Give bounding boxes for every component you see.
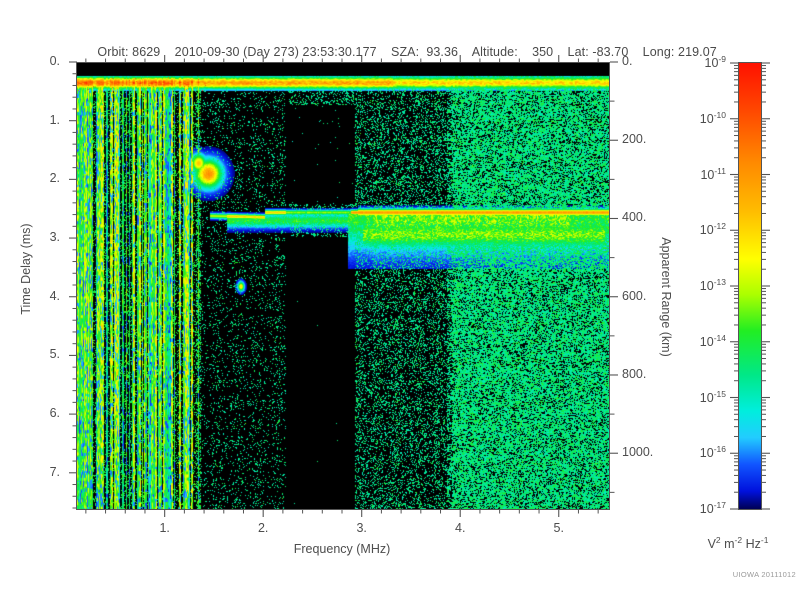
y-right-tick-label: 0.: [622, 54, 632, 68]
colorbar-units-label: V2 m-2 Hz-1: [676, 535, 800, 551]
footer-credit: UIOWA 20111012: [660, 570, 796, 579]
ionogram-page: Orbit: 8629 2010-09-30 (Day 273) 23:53:3…: [0, 0, 800, 600]
colorbar-tick-label: 10-14: [676, 333, 726, 349]
colorbar-tick-label: 10-15: [676, 389, 726, 405]
y-right-tick-label: 1000.: [622, 445, 653, 459]
y-right-tick-label: 400.: [622, 210, 646, 224]
colorbar-tick-label: 10-12: [676, 221, 726, 237]
x-tick-label: 2.: [243, 521, 283, 535]
y-right-axis-ticks: [609, 61, 625, 510]
x-tick-label: 5.: [539, 521, 579, 535]
y-left-tick-label: 1.: [30, 113, 60, 127]
y-left-tick-label: 2.: [30, 171, 60, 185]
colorbar-tick-label: 10-9: [676, 54, 726, 70]
y-left-tick-label: 0.: [30, 54, 60, 68]
colorbar: [738, 62, 762, 510]
y-left-tick-label: 7.: [30, 465, 60, 479]
colorbar-right-ticks: [761, 61, 773, 510]
y-right-tick-label: 800.: [622, 367, 646, 381]
y-right-axis-title: Apparent Range (km): [659, 227, 673, 367]
x-axis-title: Frequency (MHz): [0, 542, 684, 556]
colorbar-tick-label: 10-10: [676, 110, 726, 126]
radargram-heatmap-canvas: [77, 63, 609, 509]
colorbar-tick-label: 10-17: [676, 500, 726, 516]
y-right-tick-label: 600.: [622, 289, 646, 303]
x-tick-label: 1.: [145, 521, 185, 535]
x-tick-label: 3.: [342, 521, 382, 535]
colorbar-gradient: [739, 63, 761, 509]
y-left-tick-label: 3.: [30, 230, 60, 244]
y-left-tick-label: 5.: [30, 347, 60, 361]
y-left-axis-title: Time Delay (ms): [19, 209, 33, 329]
radargram-plot-area: [76, 62, 610, 510]
colorbar-tick-label: 10-13: [676, 277, 726, 293]
x-tick-label: 4.: [440, 521, 480, 535]
y-right-tick-label: 200.: [622, 132, 646, 146]
y-left-tick-label: 6.: [30, 406, 60, 420]
colorbar-tick-label: 10-16: [676, 444, 726, 460]
colorbar-tick-label: 10-11: [676, 166, 726, 182]
y-left-tick-label: 4.: [30, 289, 60, 303]
